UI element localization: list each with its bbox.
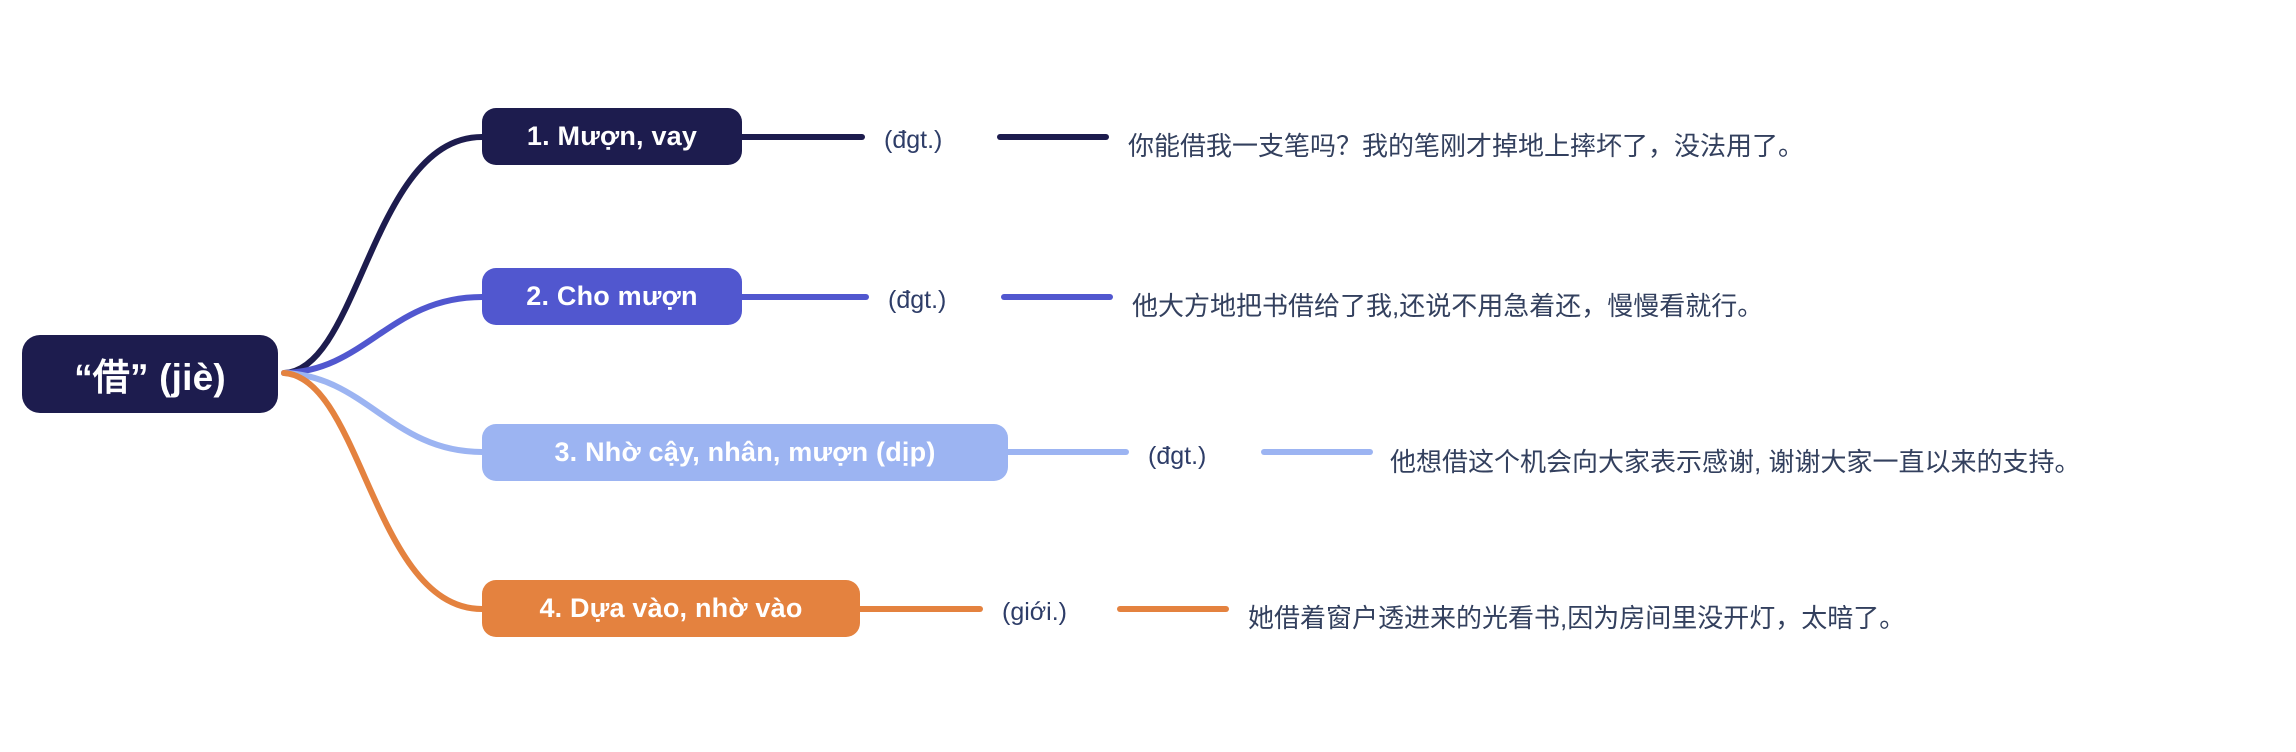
mind-map-canvas: “借” (jiè) 1. Mượn, vay 2. Cho mượn 3. Nh… xyxy=(0,0,2296,752)
example-sentence-2: 他大方地把书借给了我,还说不用急着还，慢慢看就行。 xyxy=(1132,286,1763,323)
edge-root-to-branch-3 xyxy=(284,373,482,452)
branch-node-1[interactable]: 1. Mượn, vay xyxy=(482,108,742,165)
branch-node-4[interactable]: 4. Dựa vào, nhờ vào xyxy=(482,580,860,637)
edge-root-to-branch-4 xyxy=(284,373,482,609)
part-of-speech-label-2: (đgt.) xyxy=(888,286,946,315)
part-of-speech-label-4: (giới.) xyxy=(1002,598,1067,627)
example-sentence-1: 你能借我一支笔吗？我的笔刚才掉地上摔坏了，没法用了。 xyxy=(1128,126,1804,163)
example-sentence-4: 她借着窗户透进来的光看书,因为房间里没开灯，太暗了。 xyxy=(1248,598,1905,635)
part-of-speech-label-1: (đgt.) xyxy=(884,126,942,155)
root-node[interactable]: “借” (jiè) xyxy=(22,335,278,413)
root-node-label: “借” (jiè) xyxy=(74,347,226,401)
branch-node-2[interactable]: 2. Cho mượn xyxy=(482,268,742,325)
branch-node-4-label: 4. Dựa vào, nhờ vào xyxy=(539,593,802,624)
branch-node-3-label: 3. Nhờ cậy, nhân, mượn (dịp) xyxy=(554,437,935,468)
branch-node-2-label: 2. Cho mượn xyxy=(526,281,697,312)
example-sentence-3: 他想借这个机会向大家表示感谢, 谢谢大家一直以来的支持。 xyxy=(1390,442,2080,479)
branch-node-1-label: 1. Mượn, vay xyxy=(527,121,697,152)
connector-layer xyxy=(0,0,2296,752)
part-of-speech-label-3: (đgt.) xyxy=(1148,442,1206,471)
edge-root-to-branch-2 xyxy=(284,297,482,373)
edge-root-to-branch-1 xyxy=(284,137,482,373)
branch-node-3[interactable]: 3. Nhờ cậy, nhân, mượn (dịp) xyxy=(482,424,1008,481)
